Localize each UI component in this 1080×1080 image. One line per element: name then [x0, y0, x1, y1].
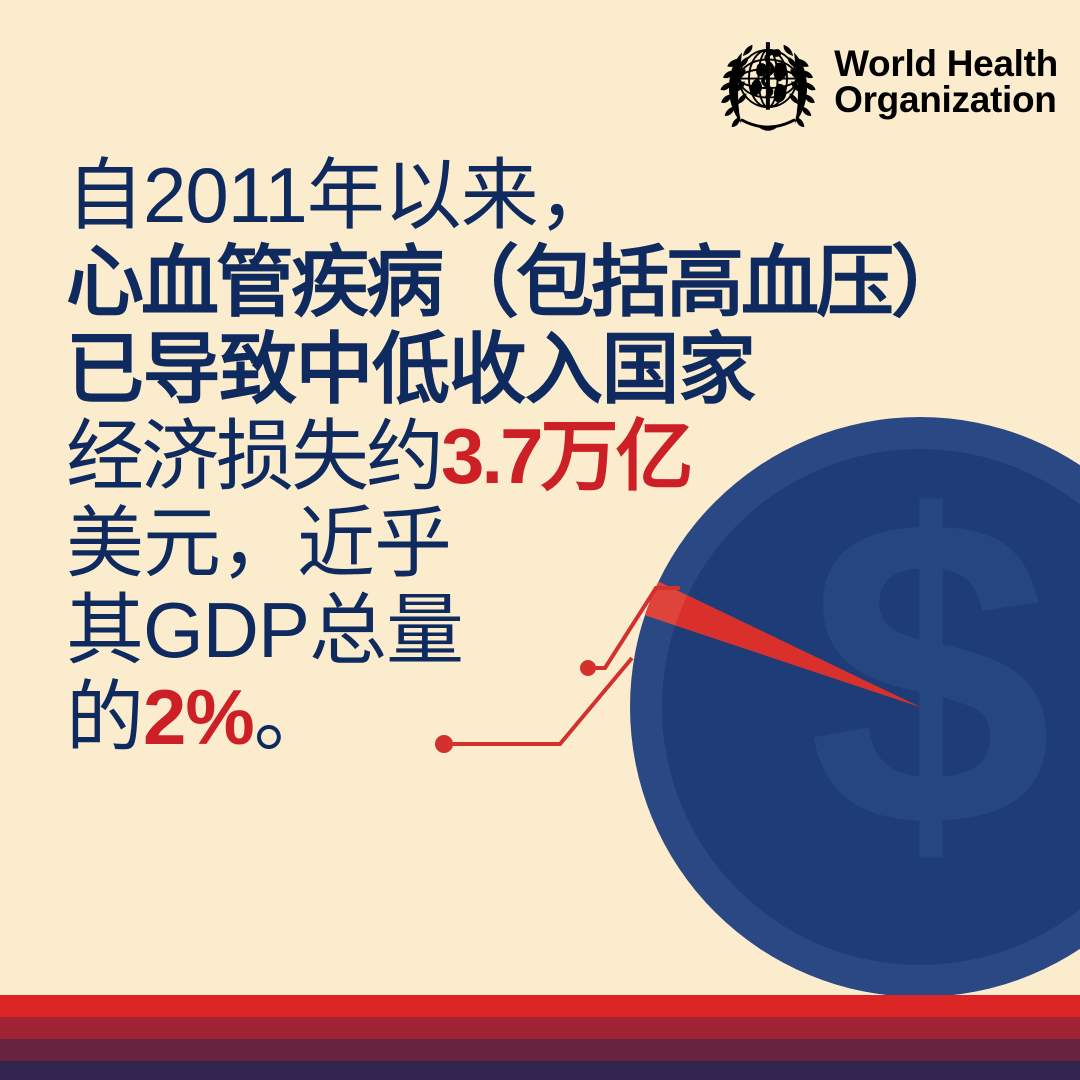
headline-highlight-amount: 3.7万亿 — [441, 412, 690, 500]
who-logo: World Health Organization — [716, 30, 1058, 134]
headline-highlight-percent: 2% — [143, 673, 254, 761]
headline-line-4: 经济损失约3.7万亿 — [66, 413, 966, 500]
who-wordmark-line2: Organization — [834, 82, 1058, 118]
headline-line-5: 美元，近乎 — [66, 500, 966, 587]
headline-line-2: 心血管疾病（包括高血压） — [66, 239, 966, 326]
bar-dark-red — [0, 1017, 1080, 1039]
headline-line-3: 已导致中低收入国家 — [66, 326, 966, 413]
headline-seg: 心血管疾病（包括高血压） — [66, 238, 966, 326]
headline-seg: 其GDP总量 — [66, 586, 463, 674]
footer-color-bars — [0, 995, 1080, 1080]
bar-maroon — [0, 1039, 1080, 1061]
headline-seg: 经济损失约 — [66, 412, 441, 500]
headline-seg: 美元，近乎 — [66, 499, 451, 587]
headline-seg: 已导致中低收入国家 — [66, 325, 755, 413]
headline-line-7: 的2%。 — [66, 674, 966, 761]
who-emblem-icon — [716, 30, 820, 134]
headline-seg: 。 — [254, 673, 331, 761]
bar-red — [0, 995, 1080, 1017]
who-wordmark-line1: World Health — [834, 46, 1058, 82]
headline-line-1: 自2011年以来， — [66, 152, 966, 239]
headline-line-6: 其GDP总量 — [66, 587, 966, 674]
bar-navy-purple — [0, 1061, 1080, 1080]
headline-text: 自2011年以来， 心血管疾病（包括高血压） 已导致中低收入国家 经济损失约3.… — [66, 152, 966, 761]
who-wordmark: World Health Organization — [834, 46, 1058, 118]
infographic-poster: $ — [0, 0, 1080, 1080]
headline-seg: 的 — [66, 673, 143, 761]
headline-seg: 自2011年以来， — [66, 151, 615, 239]
